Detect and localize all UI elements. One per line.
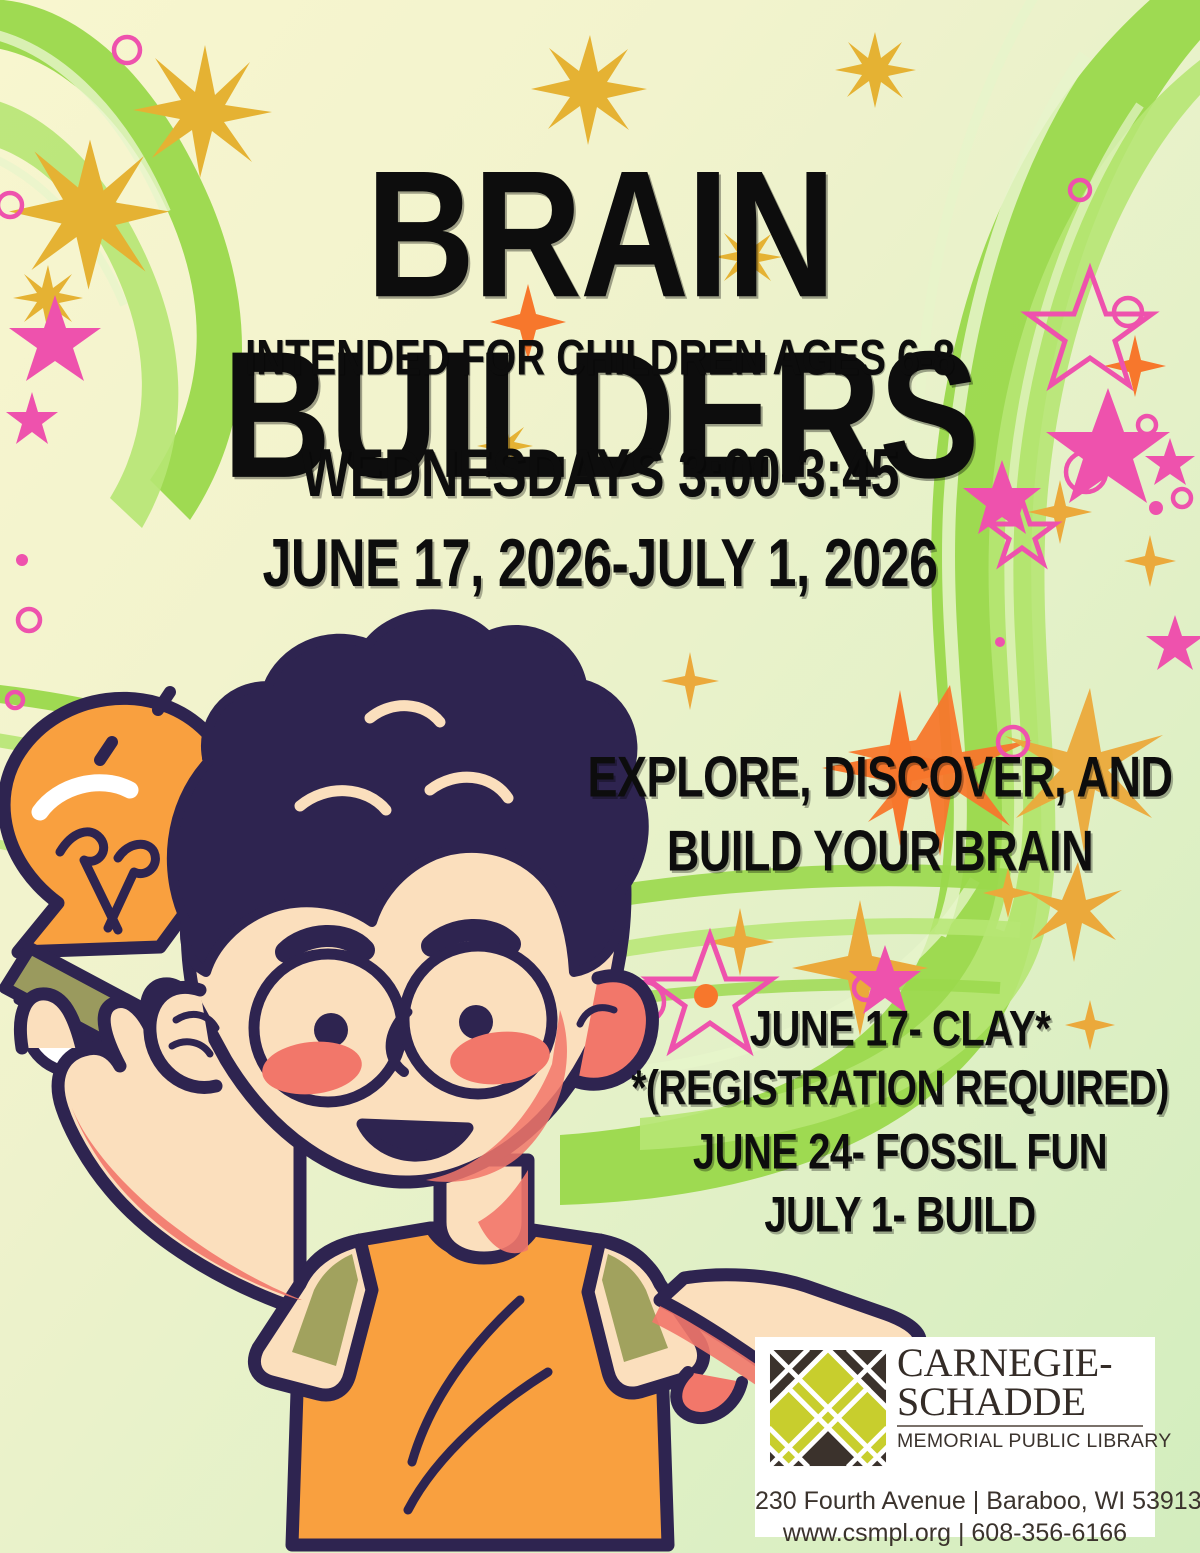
session-registration-note: *(REGISTRATION REQUIRED) <box>600 1064 1200 1113</box>
session-item: JULY 1- BUILD <box>600 1190 1200 1240</box>
logo-divider <box>897 1425 1143 1427</box>
audience-subtitle: INTENDED FOR CHILDREN AGES 6-8 <box>0 333 1200 383</box>
session-item: JUNE 24- FOSSIL FUN <box>600 1127 1200 1177</box>
logo-name-line-2: SCHADDE <box>897 1382 1143 1421</box>
poster-root: BRAIN BUILDERS INTENDED FOR CHILDREN AGE… <box>0 0 1200 1553</box>
tagline-line-1: EXPLORE, DISCOVER, AND <box>560 748 1200 806</box>
library-contact: www.csmpl.org | 608-356-6166 <box>755 1519 1155 1548</box>
left-arm <box>20 984 300 1310</box>
schedule-time: WEDNESDAYS 3:00-3:45 <box>0 440 1200 508</box>
library-address: 230 Fourth Avenue | Baraboo, WI 53913 <box>755 1487 1155 1516</box>
shirt <box>254 1228 703 1545</box>
face <box>254 930 552 1156</box>
logo-name-line-1: CARNEGIE- <box>897 1343 1143 1382</box>
tagline-line-2: BUILD YOUR BRAIN <box>560 822 1200 880</box>
session-item: JUNE 17- CLAY* <box>600 1004 1200 1054</box>
logo-tagline: MEMORIAL PUBLIC LIBRARY <box>897 1430 1143 1453</box>
diamond-lattice-logo-icon <box>769 1347 887 1471</box>
library-logo-card: CARNEGIE- SCHADDE MEMORIAL PUBLIC LIBRAR… <box>755 1337 1155 1537</box>
lightbulb-icon <box>4 698 237 1072</box>
schedule-dates: JUNE 17, 2026-JULY 1, 2026 <box>0 530 1200 598</box>
